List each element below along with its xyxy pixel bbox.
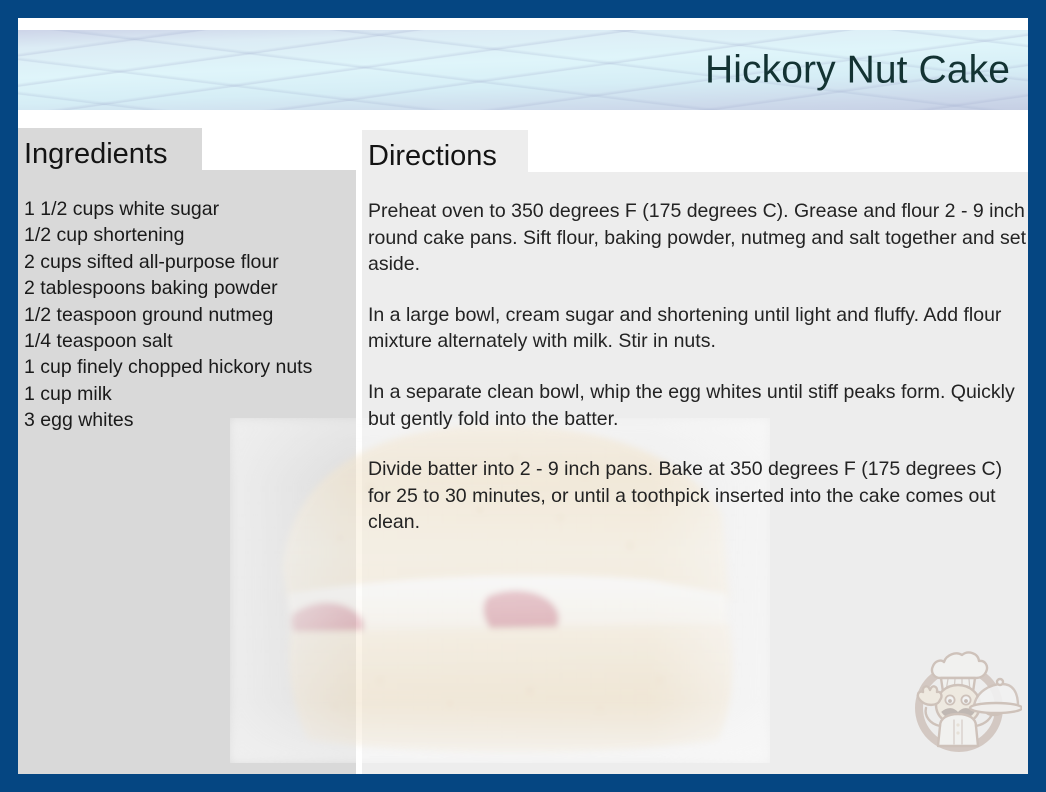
direction-step: Divide batter into 2 - 9 inch pans. Bake…: [368, 456, 1028, 536]
list-item: 1 cup milk: [24, 381, 354, 407]
list-item: 2 cups sifted all-purpose flour: [24, 249, 354, 275]
page-title: Hickory Nut Cake: [705, 51, 1010, 90]
ingredients-heading: Ingredients: [24, 140, 168, 169]
list-item: 1/2 teaspoon ground nutmeg: [24, 302, 354, 328]
list-item: 3 egg whites: [24, 407, 354, 433]
list-item: 2 tablespoons baking powder: [24, 275, 354, 301]
direction-step: In a separate clean bowl, whip the egg w…: [368, 379, 1028, 432]
list-item: 1 1/2 cups white sugar: [24, 196, 354, 222]
ingredients-list: 1 1/2 cups white sugar 1/2 cup shortenin…: [24, 196, 354, 434]
directions-heading: Directions: [368, 142, 497, 171]
list-item: 1/2 cup shortening: [24, 222, 354, 248]
direction-step: In a large bowl, cream sugar and shorten…: [368, 302, 1028, 355]
recipe-card: Hickory Nut Cake: [0, 0, 1046, 792]
header-banner: Hickory Nut Cake: [18, 30, 1028, 110]
list-item: 1/4 teaspoon salt: [24, 328, 354, 354]
list-item: 1 cup finely chopped hickory nuts: [24, 354, 354, 380]
directions-list: Preheat oven to 350 degrees F (175 degre…: [368, 198, 1028, 536]
direction-step: Preheat oven to 350 degrees F (175 degre…: [368, 198, 1028, 278]
